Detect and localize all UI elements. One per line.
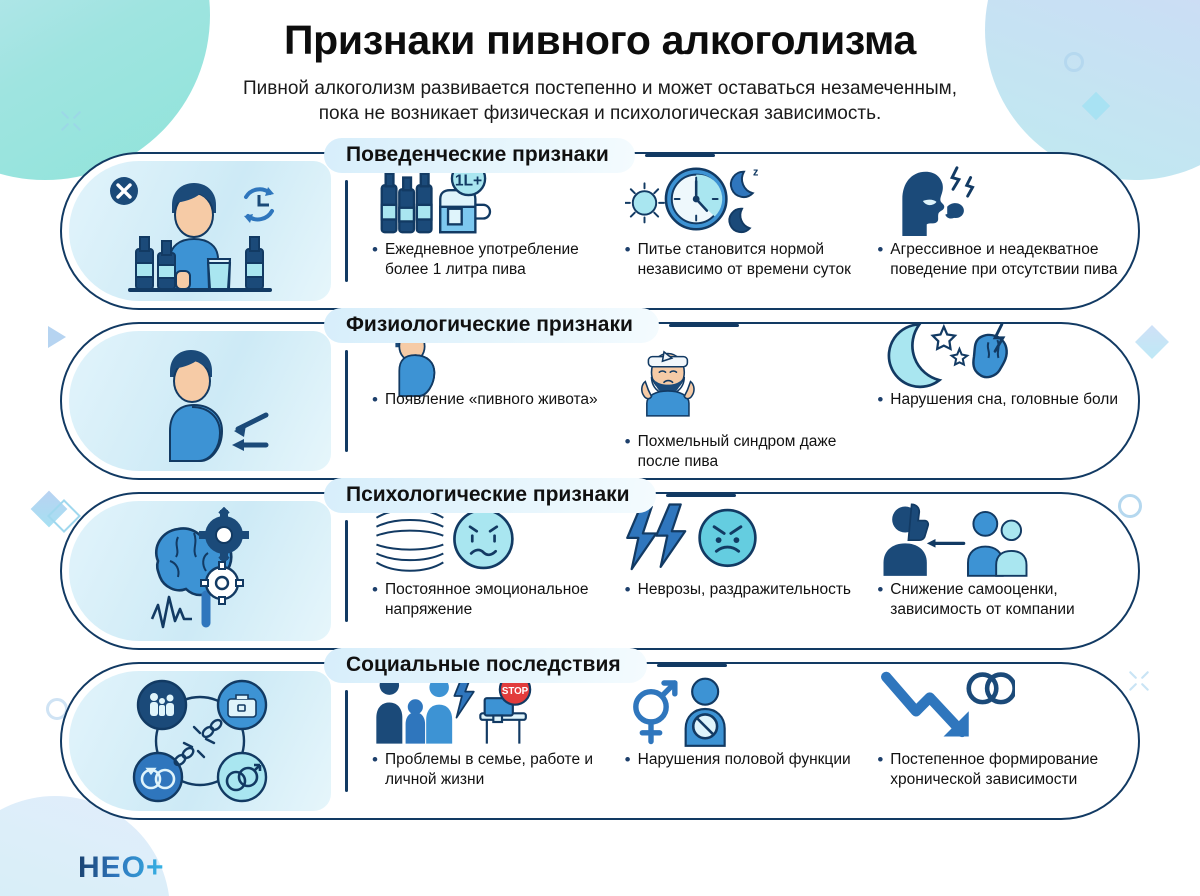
bullet-icon: • [625, 750, 631, 770]
bullet-icon: • [372, 240, 378, 260]
list-item: z • Питье становится нормой независимо о… [619, 158, 872, 304]
item-text-wrap: • Постоянное эмоциональное напряжение [372, 580, 613, 619]
heading-rule [657, 664, 727, 667]
section-illustration-physiological [69, 331, 331, 471]
section-heading-behavioral: Поведенческие признаки [324, 138, 715, 173]
section-illustration-psychological [69, 501, 331, 641]
brain-with-gears-icon [96, 507, 304, 635]
list-item: • Нарушения половой функции [619, 668, 872, 814]
item-text-wrap: • Постепенное формирование хронической з… [877, 750, 1118, 789]
item-label: Снижение самооценки, зависимость от комп… [890, 580, 1118, 619]
heading-rule [666, 494, 736, 497]
item-icon-wrap [625, 328, 866, 432]
section-items-psychological: • Постоянное эмоциональное напряжение [348, 494, 1138, 648]
item-text-wrap: • Ежедневное употребление более 1 литра … [372, 240, 613, 279]
item-label: Неврозы, раздражительность [638, 580, 851, 600]
section-card-physiological: Физиологические признаки [60, 322, 1140, 480]
list-item: • Снижение самооценки, зависимость от ко… [871, 498, 1124, 644]
section-illustration-behavioral [69, 161, 331, 301]
list-item: • Постоянное эмоциональное напряжение [366, 498, 619, 644]
item-text-wrap: • Появление «пивного живота» [372, 390, 613, 410]
section-card-psychological: Психологические признаки [60, 492, 1140, 650]
shouting-man-fist-icon [877, 160, 984, 238]
item-icon-wrap [877, 498, 1118, 580]
section-heading-label: Физиологические признаки [324, 308, 659, 343]
item-text-wrap: • Неврозы, раздражительность [625, 580, 866, 600]
item-label: Постоянное эмоциональное напряжение [385, 580, 613, 619]
subtitle-line-2: пока не возникает физическая и психологи… [0, 101, 1200, 126]
item-text-wrap: • Похмельный синдром даже после пива [625, 432, 866, 471]
downward-arrow-rings-icon [877, 670, 1015, 748]
section-heading-psychological: Психологические признаки [324, 478, 736, 513]
bullet-icon: • [372, 580, 378, 600]
item-icon-wrap [877, 328, 1118, 390]
item-text-wrap: • Нарушения сна, головные боли [877, 390, 1118, 410]
item-text-wrap: • Нарушения половой функции [625, 750, 866, 770]
section-illustration-social [69, 671, 331, 811]
list-item: • Появление «пивного живота» [366, 328, 619, 474]
item-label: Агрессивное и неадекватное поведение при… [890, 240, 1118, 279]
section-heading-label: Психологические признаки [324, 478, 656, 513]
bullet-icon: • [625, 580, 631, 600]
section-items-behavioral: 1L+ • Ежедневное употребление более 1 ли… [348, 154, 1138, 308]
list-item: • Агрессивное и неадекватное поведение п… [871, 158, 1124, 304]
section-heading-social: Социальные последствия [324, 648, 727, 683]
bullet-icon: • [625, 240, 631, 260]
section-heading-label: Социальные последствия [324, 648, 647, 683]
bullet-icon: • [877, 750, 883, 770]
section-card-social: Социальные последствия [60, 662, 1140, 820]
item-label: Появление «пивного живота» [385, 390, 598, 410]
heading-rule [645, 154, 715, 157]
bullet-icon: • [877, 240, 883, 260]
item-label: Ежедневное употребление более 1 литра пи… [385, 240, 613, 279]
section-heading-label: Поведенческие признаки [324, 138, 635, 173]
sleep-z-label: z [753, 167, 758, 179]
bullet-icon: • [372, 750, 378, 770]
thumbs-down-person-group-icon [877, 500, 1029, 578]
item-text-wrap: • Снижение самооценки, зависимость от ко… [877, 580, 1118, 619]
bullet-icon: • [372, 390, 378, 410]
list-item: 1L+ • Ежедневное употребление более 1 ли… [366, 158, 619, 304]
bullet-icon: • [877, 390, 883, 410]
infographic-page: Признаки пивного алкоголизма Пивной алко… [0, 0, 1200, 896]
section-items-social: STOP • Проблемы в семье, работе и личной… [348, 664, 1138, 818]
decor-diamond-icon [1135, 325, 1169, 359]
item-label: Похмельный синдром даже после пива [638, 432, 866, 471]
page-title: Признаки пивного алкоголизма [0, 18, 1200, 64]
moon-stars-brain-insomnia-icon [877, 320, 1011, 398]
section-heading-physiological: Физиологические признаки [324, 308, 739, 343]
hangover-headache-man-icon [625, 341, 711, 419]
item-text-wrap: • Питье становится нормой независимо от … [625, 240, 866, 279]
item-label: Нарушения сна, головные боли [890, 390, 1118, 410]
list-item: • Постепенное формирование хронической з… [871, 668, 1124, 814]
page-header: Признаки пивного алкоголизма Пивной алко… [0, 18, 1200, 126]
item-text-wrap: • Проблемы в семье, работе и личной жизн… [372, 750, 613, 789]
list-item: STOP • Проблемы в семье, работе и личной… [366, 668, 619, 814]
list-item: • Нарушения сна, головные боли [871, 328, 1124, 474]
broken-chain-life-circles-icon [96, 677, 304, 805]
bullet-icon: • [877, 580, 883, 600]
man-with-belly-arrows-icon [96, 337, 304, 465]
badge-1l-label: 1L+ [455, 172, 482, 189]
section-items-physiological: • Появление «пивного живота» [348, 324, 1138, 478]
item-label: Питье становится нормой независимо от вр… [638, 240, 866, 279]
item-label: Нарушения половой функции [638, 750, 851, 770]
subtitle-line-1: Пивной алкоголизм развивается постепенно… [0, 76, 1200, 101]
bullet-icon: • [625, 432, 631, 452]
sections-list: Поведенческие признаки [60, 152, 1140, 832]
section-card-behavioral: Поведенческие признаки [60, 152, 1140, 310]
item-label: Проблемы в семье, работе и личной жизни [385, 750, 613, 789]
list-item: • Похмельный синдром даже после пива [619, 328, 872, 474]
page-subtitle: Пивной алкоголизм развивается постепенно… [0, 76, 1200, 126]
brand-logo: НЕО+ [78, 851, 165, 885]
heading-rule [669, 324, 739, 327]
item-icon-wrap [877, 158, 1118, 240]
list-item: • Неврозы, раздражительность [619, 498, 872, 644]
item-label: Постепенное формирование хронической зав… [890, 750, 1118, 789]
man-with-beer-bottles-icon [96, 167, 304, 295]
stop-badge-label: STOP [502, 686, 529, 697]
item-icon-wrap [877, 668, 1118, 750]
item-text-wrap: • Агрессивное и неадекватное поведение п… [877, 240, 1118, 279]
